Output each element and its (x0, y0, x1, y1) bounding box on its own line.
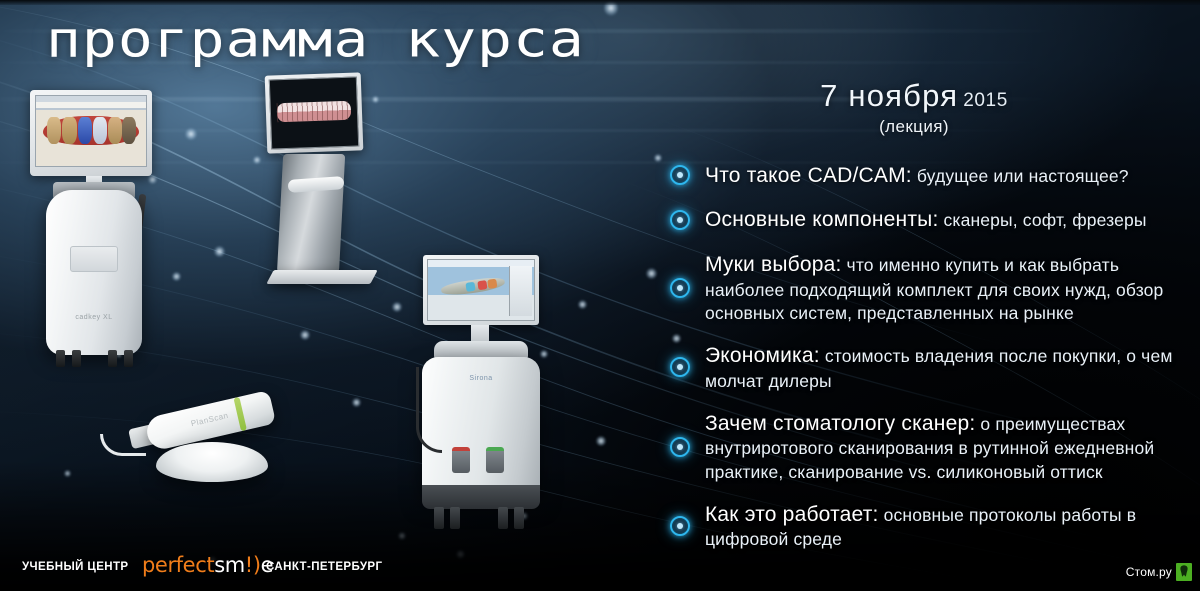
caster-wheel (434, 507, 444, 529)
date-day-month: 7 ноября (820, 78, 958, 113)
stom-ru-watermark[interactable]: Стом.ру (1126, 563, 1192, 581)
target-bullet-icon (668, 435, 692, 459)
agenda-column: 7 ноября2015 (лекция) Что такое CAD/CAM:… (668, 80, 1188, 568)
list-item-lead: Как это работает: (705, 503, 879, 526)
glow-speck (646, 268, 657, 279)
target-bullet-icon (668, 163, 692, 187)
device-label: cadkey XL (75, 314, 112, 321)
list-item-text: Что такое CAD/CAM: будущее или настоящее… (705, 162, 1188, 190)
status-pad (452, 447, 470, 473)
tooth-model (47, 117, 61, 144)
tooth-model (122, 117, 136, 144)
device-scanner-stand-with-monitor (262, 74, 380, 294)
glow-speck (300, 330, 310, 340)
software-side-panel (509, 266, 532, 316)
device-milling-unit-with-monitor: cadkey XL (24, 90, 174, 410)
list-item-text: Зачем стоматологу сканер: о преимущества… (705, 410, 1188, 484)
caster-wheel (56, 350, 65, 367)
date-subtitle: (лекция) (668, 117, 1160, 137)
cad-design-screen (427, 259, 535, 321)
unit-plinth (422, 485, 540, 509)
glow-speck (214, 246, 225, 257)
cad-software-screen (35, 95, 147, 167)
target-bullet-icon (668, 208, 692, 232)
agenda-list: Что такое CAD/CAM: будущее или настоящее… (668, 162, 1188, 552)
milling-unit-body: cadkey XL (46, 190, 142, 355)
list-item-lead: Основные компоненты: (705, 208, 938, 231)
list-item-text: Экономика: стоимость владения после поку… (705, 342, 1188, 393)
glow-speck (253, 156, 261, 164)
tooth-model (108, 117, 122, 144)
logo-part-smiley: !) (245, 553, 261, 577)
list-item-lead: Зачем стоматологу сканер: (705, 412, 975, 435)
logo-part-sm: sm (214, 553, 245, 577)
crown-model (487, 279, 497, 288)
date-block: 7 ноября2015 (лекция) (668, 80, 1188, 137)
tooth-icon (1176, 563, 1192, 581)
target-bullet-icon (668, 355, 692, 379)
list-item-rest: будущее или настоящее? (912, 166, 1129, 186)
logo-part-perfect: perfect (142, 553, 214, 577)
footer: УЧЕБНЫЙ ЦЕНТР perfectsm!)e САНКТ-ПЕТЕРБУ… (0, 531, 1200, 591)
tooth-model (78, 117, 92, 144)
monitor-screen (265, 72, 364, 153)
crown-model (477, 281, 487, 290)
device-cerec-milling-unit: Sirona (410, 255, 550, 535)
list-item[interactable]: Основные компоненты: сканеры, софт, фрез… (668, 206, 1188, 234)
glow-speck (654, 154, 662, 162)
device-label: Sirona (469, 375, 492, 382)
device-label: PlanScan (190, 411, 229, 428)
page-title: программа курса (46, 10, 585, 68)
footer-learning-center: УЧЕБНЫЙ ЦЕНТР (22, 561, 128, 573)
glow-speck (64, 470, 71, 477)
glow-speck (392, 302, 402, 312)
supply-hose (416, 367, 442, 453)
top-edge-band (0, 0, 1200, 5)
list-item-text: Муки выбора: что именно купить и как выб… (705, 251, 1188, 325)
list-item-lead: Муки выбора: (705, 253, 842, 276)
perfectsmile-logo: perfectsm!)e (142, 553, 273, 577)
footer-city: САНКТ-ПЕТЕРБУРГ (266, 561, 382, 573)
list-item[interactable]: Экономика: стоимость владения после поку… (668, 342, 1188, 393)
target-bullet-icon (668, 276, 692, 300)
scanner-green-band (233, 397, 246, 431)
scanner-cradle (156, 442, 268, 482)
list-item[interactable]: Муки выбора: что именно купить и как выб… (668, 251, 1188, 325)
status-pad (486, 447, 504, 473)
presentation-slide: cadkey XL PlanScan (0, 0, 1200, 591)
caster-wheel (108, 350, 117, 367)
monitor-screen (30, 90, 152, 176)
caster-wheel (514, 507, 524, 529)
stom-ru-text: Стом.ру (1126, 565, 1172, 579)
list-item[interactable]: Зачем стоматологу сканер: о преимущества… (668, 410, 1188, 484)
caster-wheel (498, 507, 508, 529)
scanner-column (277, 154, 345, 276)
scanner-base-plate (266, 270, 377, 284)
list-item-lead: Экономика: (705, 344, 820, 367)
caster-wheel (72, 350, 81, 367)
date-year: 2015 (963, 90, 1008, 111)
date-line: 7 ноября2015 (668, 80, 1160, 113)
glow-speck (185, 128, 197, 140)
glow-speck (596, 436, 606, 446)
monitor-screen (423, 255, 539, 325)
device-planscan-handheld-scanner: PlanScan (100, 390, 300, 490)
caster-wheel (124, 350, 133, 367)
glow-speck (352, 398, 361, 407)
tooth-model (93, 117, 107, 144)
list-item-lead: Что такое CAD/CAM: (705, 164, 912, 187)
list-item-text: Основные компоненты: сканеры, софт, фрез… (705, 206, 1188, 234)
dental-arch-model (277, 101, 352, 123)
glow-speck (578, 300, 587, 309)
tooth-model (62, 117, 76, 144)
crown-model (466, 282, 476, 291)
caster-wheel (450, 507, 460, 529)
dental-arch-model (440, 276, 505, 298)
milling-chamber-door (70, 246, 118, 272)
dental-arch-screen (269, 76, 359, 149)
list-item-rest: сканеры, софт, фрезеры (938, 210, 1146, 230)
list-item[interactable]: Что такое CAD/CAM: будущее или настоящее… (668, 162, 1188, 190)
